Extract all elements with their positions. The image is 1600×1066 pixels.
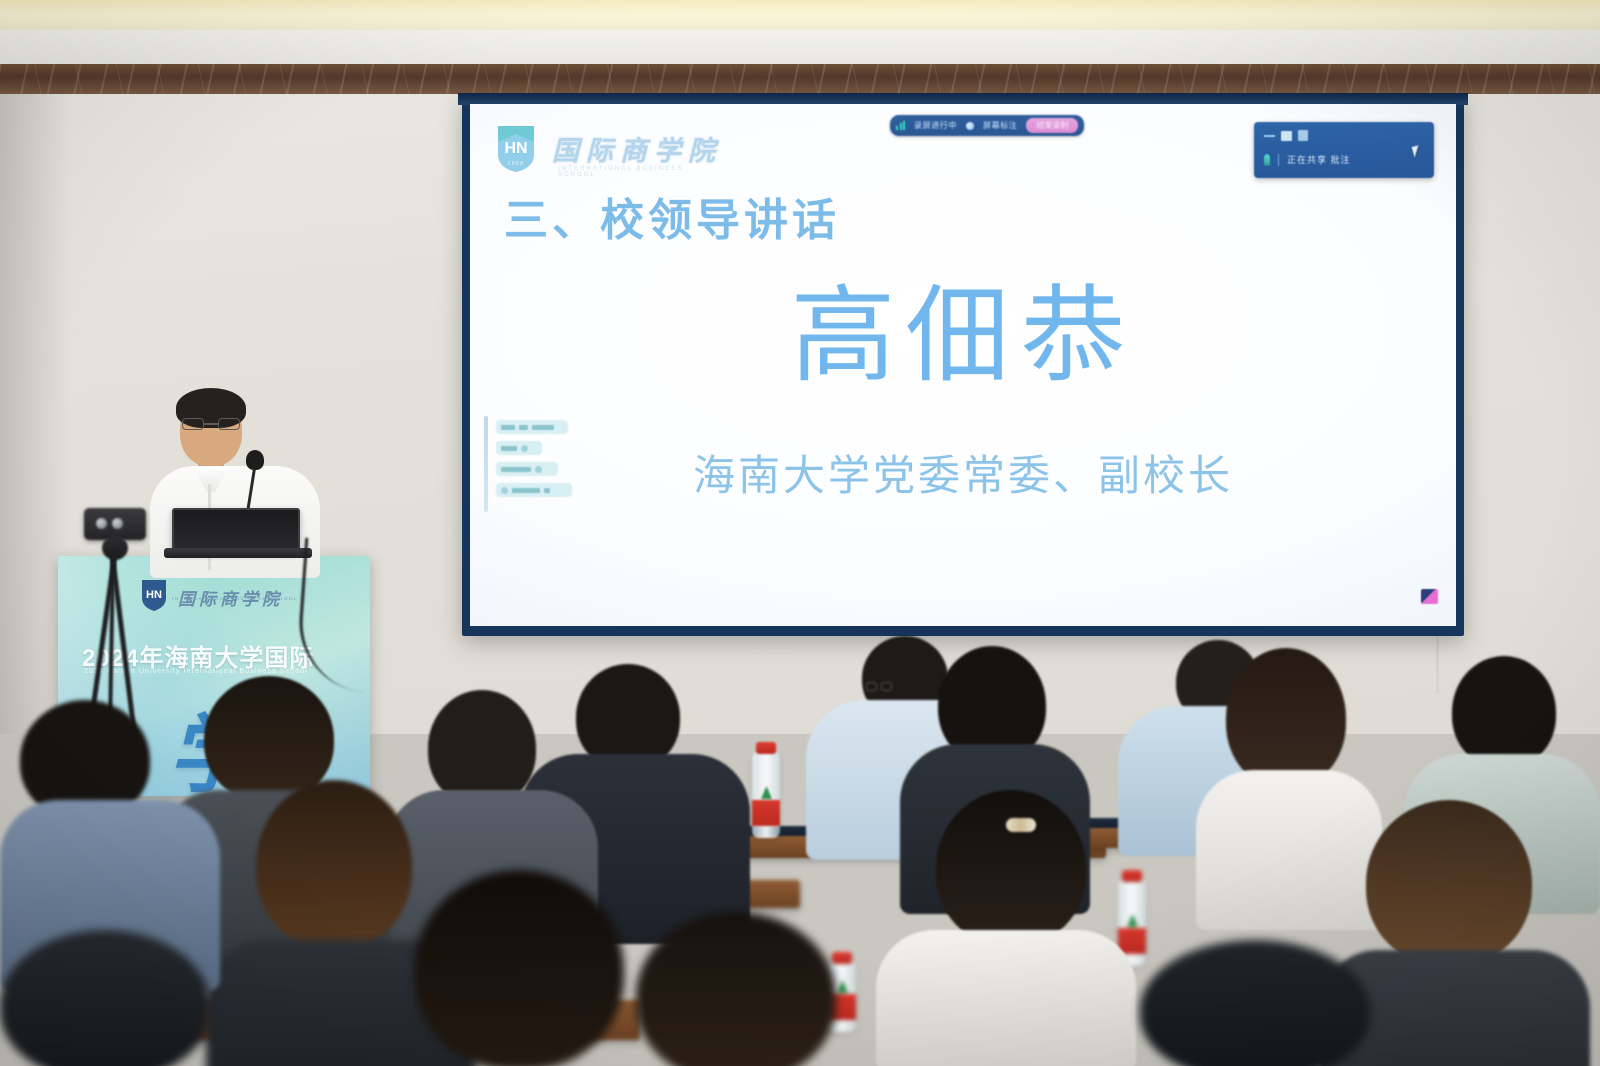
wall-wood-trim (0, 64, 1600, 96)
svg-text:HN: HN (504, 140, 527, 157)
signal-bars-icon (896, 121, 905, 130)
slide-school-name: 国际商学院 (552, 129, 722, 168)
svg-text:HN: HN (146, 589, 162, 601)
panel-label: 正在共享 批注 (1287, 153, 1351, 166)
slide-speaker-name: 高佃恭 (470, 282, 1456, 392)
audience-head (1140, 940, 1370, 1066)
glasses-icon (182, 418, 240, 430)
audience-head (1366, 800, 1532, 966)
projection-screen-frame: HN 1958 国际商学院 INTERNATIONAL BUSINESS SCH… (462, 96, 1464, 636)
annotate-label: 屏幕标注 (983, 120, 1017, 131)
water-bottle (752, 752, 780, 838)
pen-icon[interactable] (1264, 154, 1270, 166)
stop-recording-button[interactable]: 结束录制 (1026, 118, 1078, 133)
restore-icon[interactable] (1281, 131, 1292, 141)
hn-shield-icon: HN 1958 (494, 122, 538, 174)
audience-head (636, 912, 836, 1066)
audience-head (936, 790, 1086, 946)
minimize-icon[interactable] (1264, 135, 1275, 137)
podium-banner-subtitle: 2024 Hainan University International Bus… (84, 668, 308, 675)
audience-torso (1196, 770, 1382, 930)
podium-school-name-en: INTERNATIONAL BUSINESS SCHOOL (172, 596, 298, 601)
audience-head (428, 690, 536, 806)
glasses-icon (866, 682, 892, 691)
recording-status-label: 录屏进行中 (914, 120, 957, 131)
svg-text:1958: 1958 (507, 161, 524, 167)
slide-logo: HN 1958 国际商学院 INTERNATIONAL BUSINESS SCH… (494, 122, 722, 174)
audience-head (1452, 656, 1556, 768)
ceiling-slab (0, 30, 1600, 68)
panel-tools[interactable]: 正在共享 批注 (1264, 153, 1351, 166)
slide-school-name-en: INTERNATIONAL BUSINESS SCHOOL (558, 166, 722, 178)
annotate-icon[interactable] (966, 122, 974, 130)
recording-toolbar[interactable]: 录屏进行中 屏幕标注 结束录制 (890, 115, 1084, 136)
overlay-chip (496, 420, 568, 434)
slide-speaker-title: 海南大学党委常委、副校长 (470, 442, 1456, 503)
audience-head (414, 870, 624, 1066)
podium-shield-icon: HN (140, 578, 168, 617)
panel-divider (1278, 154, 1279, 166)
hair-clip (1006, 818, 1036, 832)
scene-root: HN 1958 国际商学院 INTERNATIONAL BUSINESS SCH… (0, 0, 1600, 1066)
projection-screen[interactable]: HN 1958 国际商学院 INTERNATIONAL BUSINESS SCH… (470, 104, 1456, 626)
panel-window-buttons[interactable] (1264, 130, 1308, 141)
close-icon[interactable] (1298, 130, 1308, 141)
presentation-slide: HN 1958 国际商学院 INTERNATIONAL BUSINESS SCH… (470, 104, 1456, 626)
audience-torso (876, 930, 1136, 1066)
laptop-icon (172, 508, 300, 552)
audience-head (1226, 648, 1346, 788)
microphone-icon (246, 450, 264, 470)
presenter-control-panel[interactable]: 正在共享 批注 (1254, 122, 1434, 178)
audience-head (256, 780, 412, 950)
cursor-arrow-icon (1412, 145, 1422, 158)
ceiling-light-band (0, 0, 1600, 34)
share-indicator-icon (1421, 589, 1438, 604)
slide-section-title: 三、校领导讲话 (504, 184, 840, 248)
